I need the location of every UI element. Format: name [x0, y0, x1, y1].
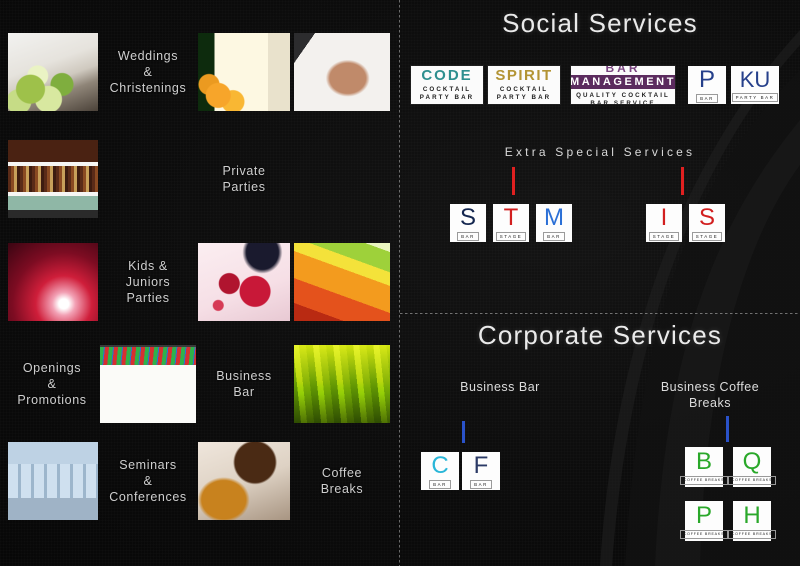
mark-card-sand-bar[interactable]: S BAR: [450, 204, 486, 242]
mark-card-smoke-box: STAGE: [692, 232, 723, 241]
caption-private-parties: Private Parties: [198, 140, 290, 218]
caption-coffee-breaks: Coffee Breaks: [294, 442, 390, 520]
brand-card-spirit-word: SPIRIT: [495, 68, 552, 83]
beach-boardwalk-photo: [100, 140, 196, 218]
social-services-title: Social Services: [400, 8, 800, 39]
coffee-cup-photo: [198, 442, 290, 520]
group-label-business-bar: Business Bar: [410, 379, 590, 395]
brand-card-pure-bar[interactable]: P BAR: [688, 66, 726, 104]
conference-desk-photo: [8, 442, 98, 520]
caption-line: Openings: [23, 360, 81, 376]
caption-line: Coffee: [322, 465, 362, 481]
caption-seminars-conferences: Seminars & Conferences: [100, 442, 196, 520]
mark-card-french-bar[interactable]: F BAR: [462, 452, 500, 490]
mark-card-break-box: COFFEE BREAKS: [680, 476, 729, 485]
mark-card-french-letter: F: [474, 454, 489, 478]
brand-card-spirit-sub2: PARTY BAR: [497, 94, 551, 102]
bar-bottles-photo: [8, 140, 98, 218]
mark-card-temple-box: STAGE: [496, 232, 527, 241]
caption-line: &: [48, 376, 57, 392]
caption-line: Seminars: [119, 457, 177, 473]
mark-card-sand-letter: S: [460, 206, 476, 230]
mark-card-moon-box: BAR: [543, 232, 565, 241]
extra-special-services-subtitle: Extra Special Services: [400, 145, 800, 159]
disco-ball-photo: [294, 140, 390, 218]
mark-card-ice-box: STAGE: [649, 232, 680, 241]
accent-bar-blue-right: [726, 416, 729, 442]
caption-line: Christenings: [110, 80, 187, 96]
caption-business-bar: Business Bar: [198, 345, 290, 423]
caption-openings-promotions: Openings & Promotions: [4, 345, 100, 423]
mark-card-sand-box: BAR: [457, 232, 479, 241]
wedding-bouquet-photo: [8, 33, 98, 111]
brand-card-ku-box: PARTY BAR: [732, 93, 779, 102]
mark-card-quick-coffee[interactable]: Q COFFEE BREAKS: [733, 447, 771, 487]
caption-line: Conferences: [109, 489, 186, 505]
mark-card-healthy-coffee[interactable]: H COFFEE BREAKS: [733, 501, 771, 541]
raspberries-cream-photo: [198, 243, 290, 321]
mark-card-break-coffee[interactable]: B COFFEE BREAKS: [685, 447, 723, 487]
brand-card-ku-letter: KU: [740, 69, 771, 91]
caption-line: Parties: [222, 179, 265, 195]
brand-card-pure-box: BAR: [696, 94, 718, 103]
green-vegetables-photo: [294, 345, 390, 423]
caption-line: Parties: [126, 290, 169, 306]
citrus-drink-photo: [294, 243, 390, 321]
accent-bar-red-right: [681, 167, 684, 195]
mark-card-concept-bar[interactable]: C BAR: [421, 452, 459, 490]
lemonade-pitcher-photo: [198, 33, 290, 111]
brand-card-spirit-sub1: COCKTAIL: [500, 86, 548, 94]
brand-card-code[interactable]: CODE COCKTAIL PARTY BAR: [411, 66, 483, 104]
brand-card-management-band: MANAGEMENT: [571, 75, 675, 89]
accent-bar-red-left: [512, 167, 515, 195]
mark-card-temple-letter: T: [504, 206, 519, 230]
mark-card-temple-stage[interactable]: T STAGE: [493, 204, 529, 242]
mark-card-premium-box: COFFEE BREAKS: [680, 530, 729, 539]
strategy-chart-photo: [100, 345, 196, 423]
brochure-page: Weddings & Christenings Private Parties …: [0, 0, 800, 566]
corporate-services-title: Corporate Services: [400, 320, 800, 351]
caption-line: Breaks: [321, 481, 364, 497]
group-label-line: Breaks: [630, 395, 790, 411]
red-floral-abstract-photo: [8, 243, 98, 321]
services-photo-grid: Weddings & Christenings Private Parties …: [0, 0, 399, 566]
mark-card-premium-letter: P: [696, 504, 712, 528]
brand-card-code-sub2: PARTY BAR: [420, 94, 474, 102]
mark-card-quick-letter: Q: [743, 450, 762, 474]
accent-bar-blue-left: [462, 421, 465, 443]
mark-card-premium-coffee[interactable]: P COFFEE BREAKS: [685, 501, 723, 541]
services-brands-panel: Social Services CODE COCKTAIL PARTY BAR …: [400, 0, 800, 566]
mark-card-quick-box: COFFEE BREAKS: [728, 476, 777, 485]
caption-line: Kids &: [128, 258, 168, 274]
caption-line: &: [144, 64, 153, 80]
mark-card-concept-letter: C: [431, 454, 448, 478]
brand-card-bar-sub2: BAR SERVICE: [590, 100, 655, 104]
group-label-line: Business Bar: [410, 379, 590, 395]
caption-line: Bar: [233, 384, 254, 400]
group-label-business-coffee-breaks: Business Coffee Breaks: [630, 379, 790, 411]
brand-card-pure-letter: P: [699, 68, 715, 92]
brand-card-ku-party-bar[interactable]: KU PARTY BAR: [731, 66, 779, 104]
mark-card-moon-letter: M: [544, 206, 564, 230]
brand-card-spirit[interactable]: SPIRIT COCKTAIL PARTY BAR: [488, 66, 560, 104]
brand-card-bar-sub1: QUALITY COCKTAIL: [576, 92, 670, 100]
caption-line: &: [144, 473, 153, 489]
caption-kids-juniors: Kids & Juniors Parties: [100, 243, 196, 321]
group-label-line: Business Coffee: [630, 379, 790, 395]
mark-card-ice-letter: I: [661, 206, 668, 230]
mark-card-ice-stage[interactable]: I STAGE: [646, 204, 682, 242]
caption-line: Promotions: [17, 392, 86, 408]
caption-line: Juniors: [126, 274, 171, 290]
brand-card-bar-word: BAR: [606, 66, 641, 74]
mark-card-concept-box: BAR: [429, 480, 451, 489]
mark-card-healthy-box: COFFEE BREAKS: [728, 530, 777, 539]
mark-card-smoke-letter: S: [699, 206, 715, 230]
brand-card-code-word: CODE: [421, 68, 472, 83]
mark-card-break-letter: B: [696, 450, 712, 474]
baby-feet-photo: [294, 33, 390, 111]
caption-line: Business: [216, 368, 272, 384]
mark-card-french-box: BAR: [470, 480, 492, 489]
caption-line: Weddings: [118, 48, 178, 64]
caption-line: Private: [222, 163, 265, 179]
brand-card-code-sub1: COCKTAIL: [423, 86, 471, 94]
brand-card-bar-management[interactable]: BAR MANAGEMENT QUALITY COCKTAIL BAR SERV…: [571, 66, 675, 104]
mark-card-smoke-stage[interactable]: S STAGE: [689, 204, 725, 242]
mark-card-moon-bar[interactable]: M BAR: [536, 204, 572, 242]
caption-weddings: Weddings & Christenings: [100, 33, 196, 111]
mark-card-healthy-letter: H: [743, 504, 760, 528]
